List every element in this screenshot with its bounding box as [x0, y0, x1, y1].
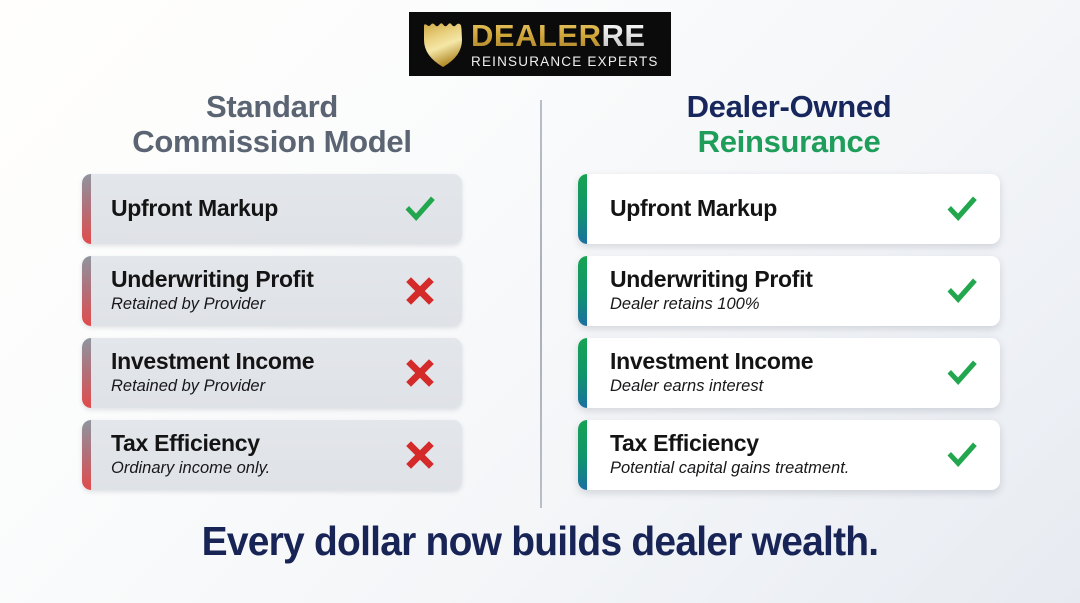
list-item-text: Tax Efficiency Ordinary income only.: [82, 431, 394, 479]
list-item-text: Underwriting Profit Dealer retains 100%: [578, 267, 936, 315]
column-right-heading-line1: Dealer-Owned: [578, 90, 1000, 125]
shield-crown-icon: [421, 20, 465, 68]
list-item-text: Investment Income Retained by Provider: [82, 349, 394, 397]
logo-tagline: REINSURANCE EXPERTS: [471, 55, 659, 69]
accent-bar: [82, 420, 91, 490]
list-item-subtitle: Retained by Provider: [111, 295, 388, 315]
list-item-subtitle: Ordinary income only.: [111, 459, 388, 479]
cross-icon: [394, 357, 462, 389]
logo-wordmark: DEALERRE REINSURANCE EXPERTS: [471, 20, 659, 69]
column-right-heading-line2: Reinsurance: [578, 125, 1000, 160]
accent-bar: [578, 420, 587, 490]
column-divider: [540, 100, 542, 508]
check-icon: [936, 358, 1000, 388]
list-item-title: Tax Efficiency: [111, 431, 388, 457]
list-item-text: Upfront Markup: [578, 196, 936, 222]
column-right-heading: Dealer-Owned Reinsurance: [578, 88, 1000, 174]
list-item-text: Investment Income Dealer earns interest: [578, 349, 936, 397]
footer-tagline: Every dollar now builds dealer wealth.: [27, 518, 1053, 565]
cross-icon: [394, 275, 462, 307]
list-item[interactable]: Investment Income Retained by Provider: [82, 338, 462, 408]
accent-bar: [578, 338, 587, 408]
column-left-heading: Standard Commission Model: [82, 88, 462, 174]
list-item-title: Investment Income: [111, 349, 388, 375]
accent-bar: [578, 256, 587, 326]
accent-bar: [578, 174, 587, 244]
column-left-heading-line2: Commission Model: [82, 125, 462, 160]
list-item-title: Underwriting Profit: [610, 267, 930, 293]
check-icon: [936, 194, 1000, 224]
column-standard-commission: Standard Commission Model Upfront Markup…: [0, 88, 540, 513]
list-item[interactable]: Underwriting Profit Retained by Provider: [82, 256, 462, 326]
list-item[interactable]: Underwriting Profit Dealer retains 100%: [578, 256, 1000, 326]
list-item-title: Investment Income: [610, 349, 930, 375]
list-item[interactable]: Investment Income Dealer earns interest: [578, 338, 1000, 408]
brand-logo: DEALERRE REINSURANCE EXPERTS: [409, 12, 671, 76]
column-left-heading-line1: Standard: [82, 90, 462, 125]
column-dealer-owned-reinsurance: Dealer-Owned Reinsurance Upfront Markup …: [540, 88, 1080, 513]
right-card-list: Upfront Markup Underwriting Profit Deale…: [578, 174, 1000, 490]
list-item-title: Upfront Markup: [610, 196, 930, 222]
list-item-subtitle: Dealer earns interest: [610, 377, 930, 397]
check-icon: [936, 276, 1000, 306]
left-card-list: Upfront Markup Underwriting Profit Retai…: [82, 174, 462, 490]
list-item-subtitle: Dealer retains 100%: [610, 295, 930, 315]
logo-brand-primary: DEALER: [471, 18, 601, 53]
list-item-text: Underwriting Profit Retained by Provider: [82, 267, 394, 315]
logo-brand-secondary: RE: [601, 18, 645, 53]
list-item[interactable]: Tax Efficiency Potential capital gains t…: [578, 420, 1000, 490]
accent-bar: [82, 256, 91, 326]
list-item-subtitle: Retained by Provider: [111, 377, 388, 397]
list-item-text: Tax Efficiency Potential capital gains t…: [578, 431, 936, 479]
list-item-title: Tax Efficiency: [610, 431, 930, 457]
list-item-title: Underwriting Profit: [111, 267, 388, 293]
cross-icon: [394, 439, 462, 471]
check-icon: [394, 194, 462, 224]
accent-bar: [82, 174, 91, 244]
list-item-subtitle: Potential capital gains treatment.: [610, 459, 930, 479]
list-item-title: Upfront Markup: [111, 196, 388, 222]
list-item[interactable]: Upfront Markup: [82, 174, 462, 244]
accent-bar: [82, 338, 91, 408]
list-item-text: Upfront Markup: [82, 196, 394, 222]
logo-brand-line: DEALERRE: [471, 20, 659, 51]
list-item[interactable]: Upfront Markup: [578, 174, 1000, 244]
check-icon: [936, 440, 1000, 470]
list-item[interactable]: Tax Efficiency Ordinary income only.: [82, 420, 462, 490]
